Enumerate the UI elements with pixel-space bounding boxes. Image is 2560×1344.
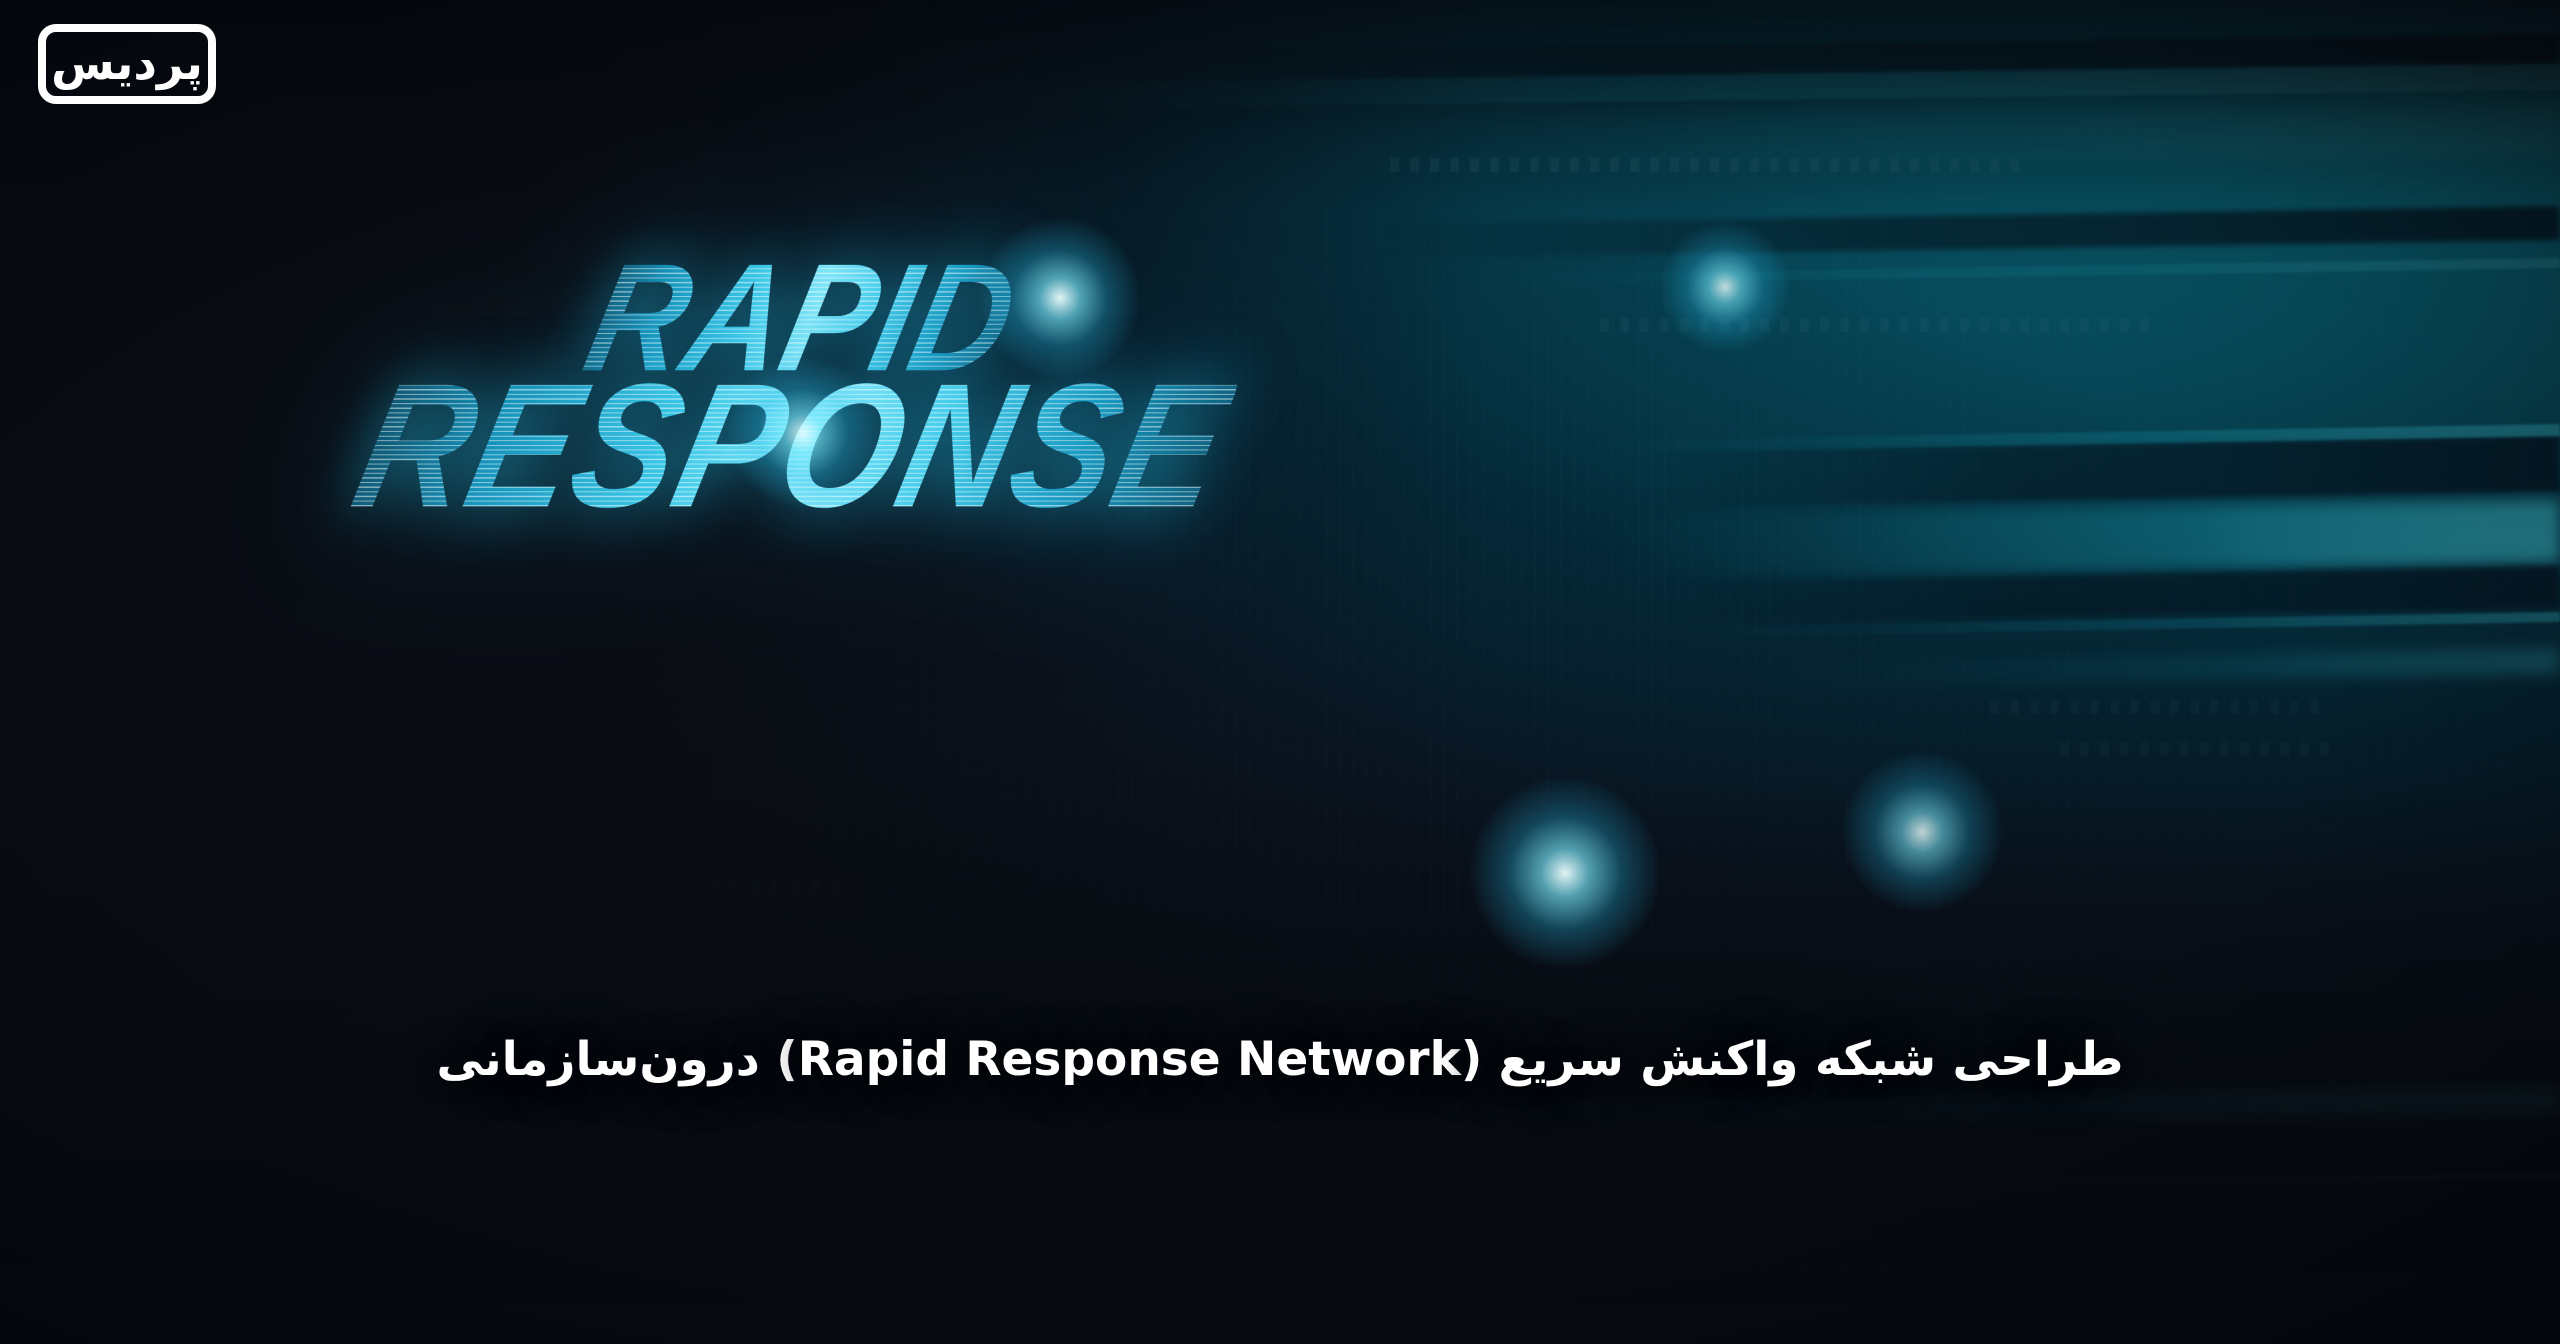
poster-caption: طراحی شبکه واکنش سریع (Rapid Response Ne…: [0, 1028, 2560, 1091]
pardis-logo[interactable]: پردیس: [38, 24, 216, 104]
background-vignette: [0, 0, 2560, 1344]
poster-canvas: پردیس RAPID RESPONSE طراحی شبکه واکنش سر…: [0, 0, 2560, 1344]
pardis-logo-text: پردیس: [51, 40, 203, 86]
